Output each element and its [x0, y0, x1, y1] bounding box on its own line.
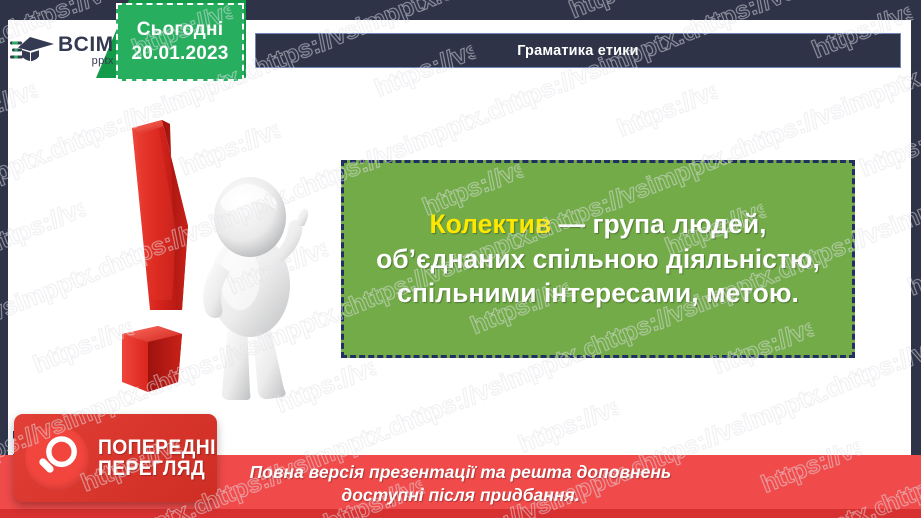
logo-title: BCIM: [58, 34, 114, 55]
preview-badge-labels: ПОПЕРЕДНІЙ ПЕРЕГЛЯД: [98, 437, 217, 480]
slide: BCIM pptx Сьогодні 20.01.2023 Граматика …: [0, 0, 921, 518]
magnifier-icon: [25, 426, 89, 490]
brand-logo: BCIM pptx: [10, 27, 122, 73]
preview-badge-line-2: ПЕРЕГЛЯД: [98, 458, 217, 479]
page-title: Граматика етики: [517, 43, 639, 59]
slide-title-bar: Граматика етики: [255, 33, 901, 68]
logo-wordmark: BCIM pptx: [58, 34, 114, 67]
date-badge-date: 20.01.2023: [131, 42, 228, 66]
date-badge-label: Сьогодні: [137, 18, 223, 42]
graduation-cap-icon: [10, 31, 56, 69]
definition-text: Колектив — група людей, об’єднаних спіль…: [344, 207, 852, 312]
date-badge: Сьогодні 20.01.2023: [116, 3, 244, 81]
preview-badge: ПОПЕРЕДНІЙ ПЕРЕГЛЯД: [14, 414, 217, 502]
preview-badge-line-1: ПОПЕРЕДНІЙ: [98, 437, 217, 458]
exclamation-mark-illustration: [100, 110, 325, 405]
definition-box: Колектив — група людей, об’єднаних спіль…: [341, 160, 855, 358]
definition-keyword: Колектив: [429, 209, 551, 239]
logo-subtitle: pptx: [58, 56, 114, 67]
